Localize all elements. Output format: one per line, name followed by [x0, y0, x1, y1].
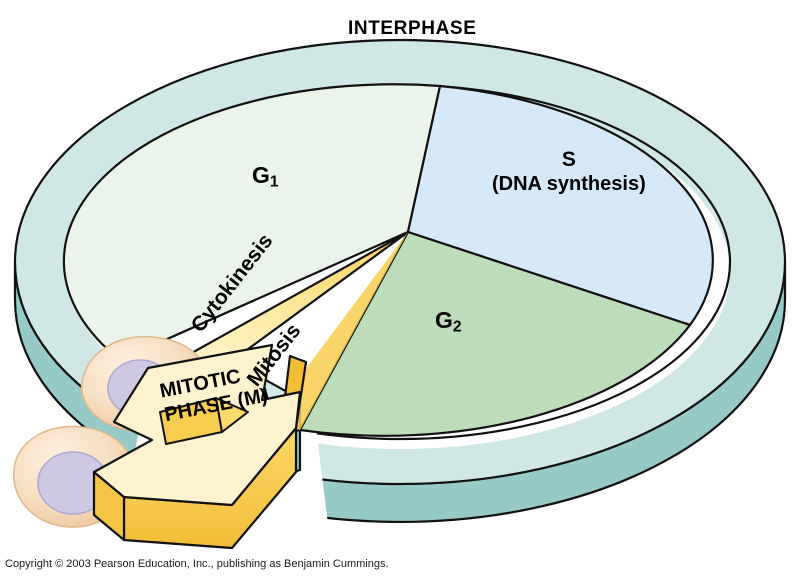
label-s-detail: (DNA synthesis) — [492, 173, 646, 195]
label-g1-letter: G — [252, 162, 270, 188]
label-g2-subscript: 2 — [453, 318, 462, 335]
label-g2-letter: G — [435, 307, 453, 333]
cell-cycle-figure: INTERPHASE G1 G2 S (DNA synthesis) Cytok… — [0, 0, 800, 580]
label-g1: G1 — [252, 163, 279, 191]
label-s-letter: S — [492, 148, 646, 172]
label-s-phase: S (DNA synthesis) — [492, 148, 646, 195]
label-interphase: INTERPHASE — [348, 18, 476, 39]
label-g1-subscript: 1 — [270, 173, 279, 190]
copyright-notice: Copyright © 2003 Pearson Education, Inc.… — [5, 558, 389, 570]
cell-cycle-illustration — [0, 0, 800, 580]
label-g2: G2 — [435, 308, 462, 336]
